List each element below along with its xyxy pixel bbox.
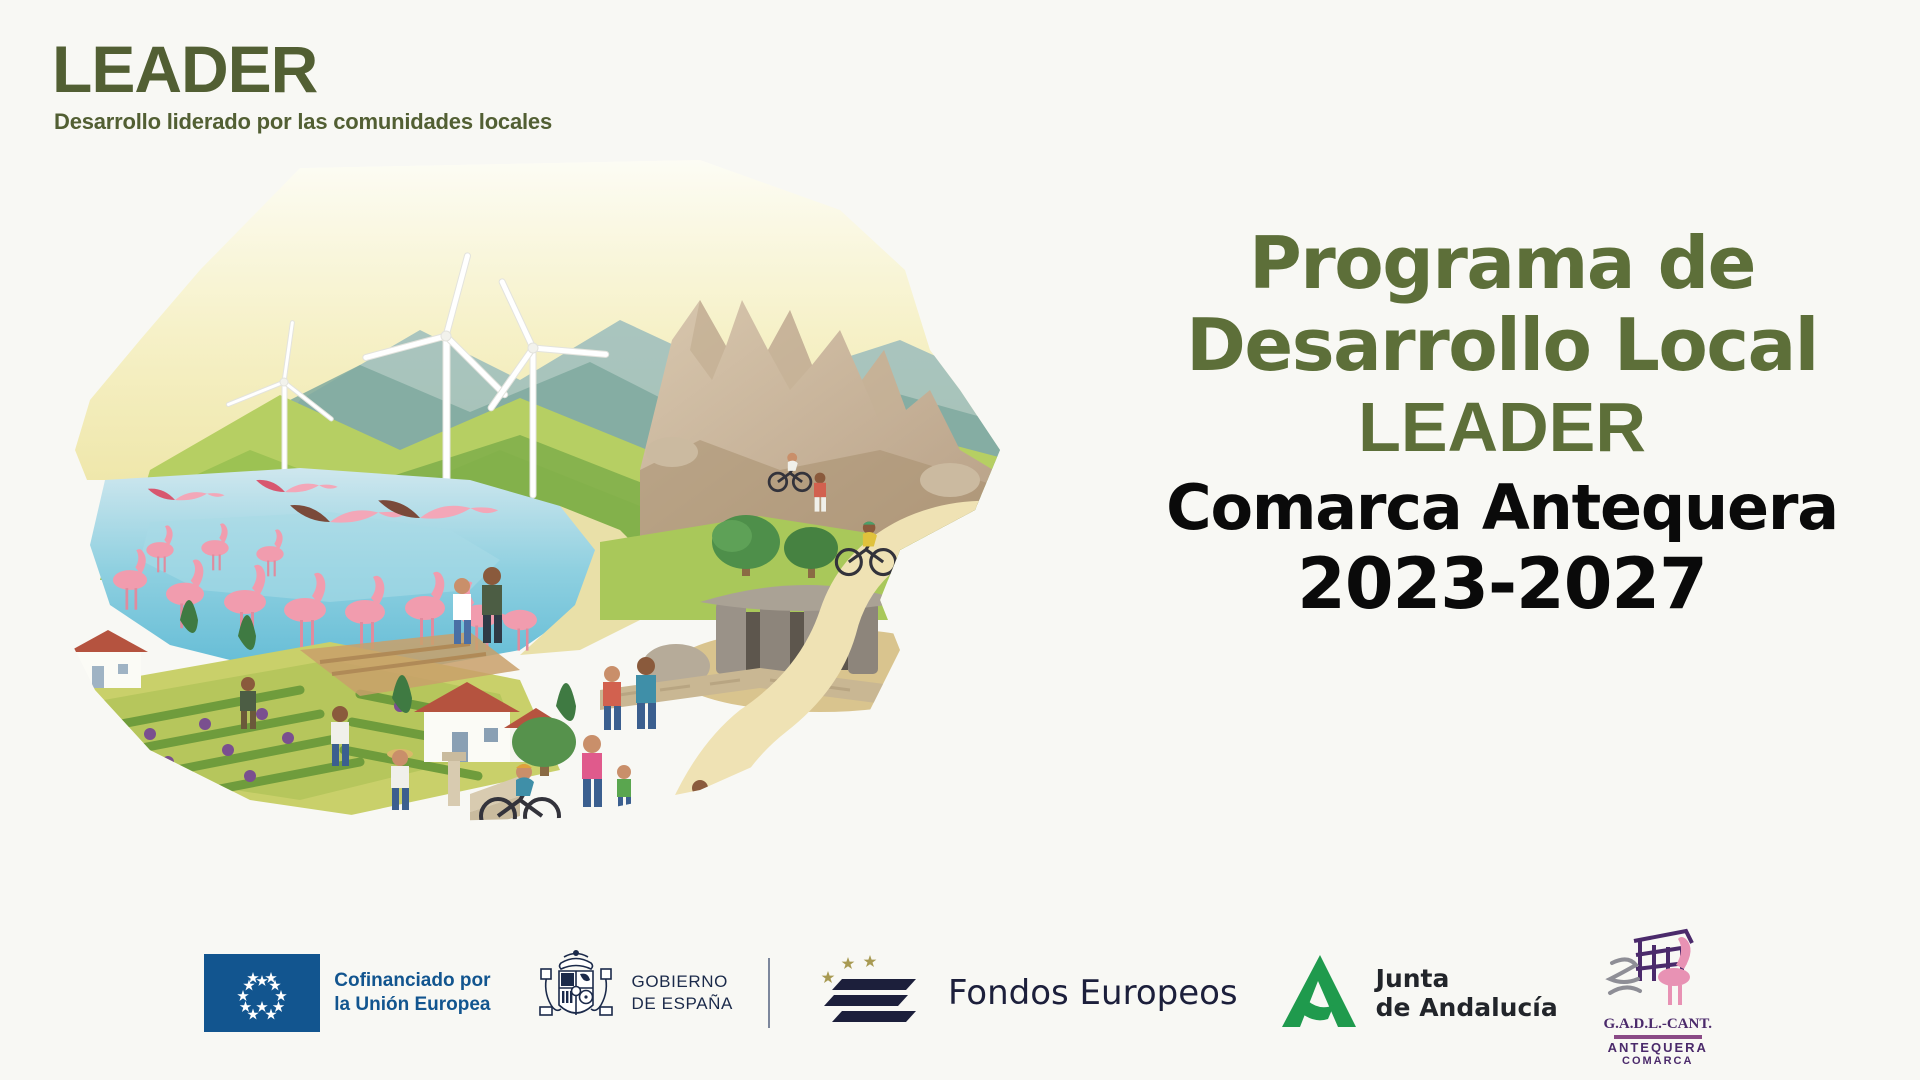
fondos-europeos-label: Fondos Europeos: [948, 976, 1238, 1010]
headline-line-1: Programa de: [1132, 222, 1872, 304]
eu-text-line-1: Cofinanciado por: [334, 970, 490, 991]
gobierno-espana-logo: GOBIERNO DE ESPAÑA: [533, 945, 770, 1042]
eu-cofinancing-logo: Cofinanciado por la Unión Europea: [204, 954, 490, 1032]
fondos-europeos-logo: Fondos Europeos: [812, 945, 1238, 1042]
farmhouse: [68, 630, 148, 688]
comarca-illustration: [0, 150, 1010, 830]
gadl-line-2: ANTEQUERA: [1608, 1040, 1708, 1055]
illustration-scene: [0, 150, 1010, 830]
spain-coat-of-arms-icon: [533, 945, 619, 1042]
leader-tagline: Desarrollo liderado por las comunidades …: [54, 110, 552, 134]
junta-andalucia-mark-icon: [1280, 949, 1364, 1038]
junta-andalucia-text: Junta de Andalucía: [1376, 964, 1558, 1023]
headline-years: 2023-2027: [1132, 546, 1872, 623]
eu-flag-icon: [204, 954, 320, 1032]
eu-logo-text: Cofinanciado por la Unión Europea: [334, 969, 490, 1017]
leader-wordmark: LEADER: [52, 36, 552, 102]
leader-brand-block: LEADER Desarrollo liderado por las comun…: [52, 36, 552, 134]
gobierno-text-line-2: DE ESPAÑA: [632, 994, 733, 1013]
headline-block: Programa de Desarrollo Local LEADER Coma…: [1132, 222, 1872, 623]
gobierno-logo-text: GOBIERNO DE ESPAÑA: [632, 971, 733, 1015]
junta-text-line-2: de Andalucía: [1376, 993, 1558, 1022]
gadl-line-3: COMARCA: [1622, 1055, 1693, 1067]
logo-divider: [768, 958, 770, 1028]
junta-text-line-1: Junta: [1376, 964, 1450, 993]
gobierno-text-line-1: GOBIERNO: [632, 972, 728, 991]
gadl-line-1: G.A.D.L.-CANT.: [1603, 1016, 1711, 1033]
headline-leader: LEADER: [1132, 388, 1872, 466]
footer-logo-strip: Cofinanciado por la Unión Europea: [0, 928, 1920, 1058]
junta-andalucia-logo: Junta de Andalucía: [1280, 949, 1558, 1038]
gadl-antequera-logo: G.A.D.L.-CANT. ANTEQUERA COMARCA: [1600, 919, 1716, 1067]
eu-text-line-2: la Unión Europea: [334, 994, 490, 1015]
gadl-divider: [1614, 1035, 1702, 1039]
gadl-dolmen-flamingo-icon: [1600, 919, 1716, 1016]
fondos-europeos-mark-icon: [812, 945, 932, 1042]
headline-line-2: Desarrollo Local: [1132, 304, 1872, 386]
poster-canvas: LEADER Desarrollo liderado por las comun…: [0, 0, 1920, 1080]
headline-comarca: Comarca Antequera: [1132, 473, 1872, 542]
